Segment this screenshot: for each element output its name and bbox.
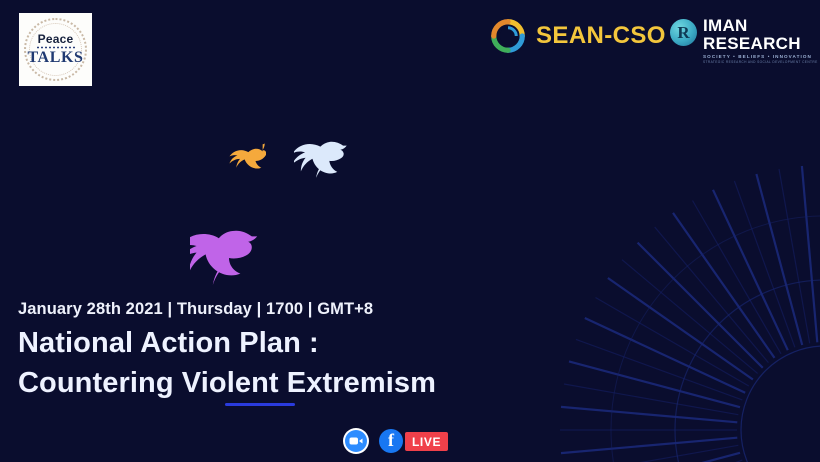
- peace-talks-logo: Peace TALKS: [19, 13, 92, 86]
- facebook-live-badge[interactable]: f LIVE: [379, 429, 448, 453]
- page-title: National Action Plan : Countering Violen…: [18, 323, 436, 403]
- event-datetime: January 28th 2021 | Thursday | 1700 | GM…: [18, 300, 373, 319]
- live-label: LIVE: [405, 432, 448, 451]
- dove-white-icon: [294, 136, 352, 191]
- zoom-icon: [345, 430, 367, 452]
- zoom-button[interactable]: [343, 428, 369, 454]
- logo-line-peace: Peace: [38, 33, 74, 45]
- facebook-icon: f: [379, 429, 403, 453]
- dove-purple-icon: [190, 228, 262, 288]
- swirl-ring-icon: [490, 18, 526, 54]
- webinar-poster: Peace TALKS SEAN-CSO R IMAN RESEARCH SOC…: [0, 0, 820, 462]
- logo-ring: Peace TALKS: [24, 18, 87, 81]
- speaker-rail: SPEAKER Dwi Ruby Kholifah, Country Repre…: [620, 0, 820, 462]
- platform-badges: f LIVE: [343, 428, 448, 454]
- video-camera-icon: [349, 436, 363, 446]
- title-line-1: National Action Plan :: [18, 327, 319, 359]
- logo-line-talks: TALKS: [27, 50, 83, 66]
- title-line-2: Countering Violent Extremism: [18, 363, 436, 403]
- title-divider: [225, 403, 295, 406]
- dove-orange-icon: [224, 142, 266, 180]
